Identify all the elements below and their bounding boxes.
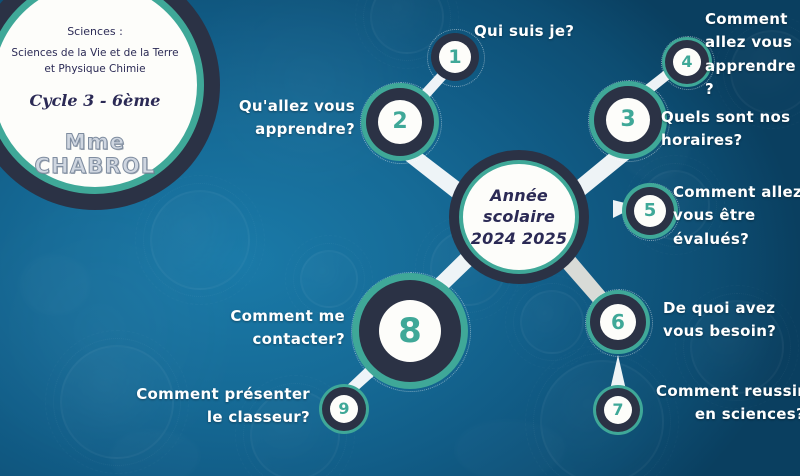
node-8-label: Comment me contacter? xyxy=(180,305,345,352)
node-5-label: Comment allez vous être évalués? xyxy=(673,181,800,251)
node-8-number-circle: 8 xyxy=(379,300,441,362)
node-9-number-circle: 9 xyxy=(330,395,358,423)
node-1-label: Qui suis je? xyxy=(474,20,614,43)
node-9-label: Comment présenter le classeur? xyxy=(115,383,310,430)
node-7[interactable]: 7 xyxy=(596,388,640,432)
node-5-number-circle: 5 xyxy=(634,195,666,227)
node-4[interactable]: 4 xyxy=(665,40,709,84)
teacher-badge: Sciences : Sciences de la Vie et de la T… xyxy=(0,0,220,210)
node-5[interactable]: 5 xyxy=(626,187,674,235)
badge-cycle: Cycle 3 - 6ème xyxy=(0,91,193,110)
node-4-label: Comment allez vous apprendre ? xyxy=(705,8,800,101)
node-2-label: Qu'allez vous apprendre? xyxy=(205,95,355,142)
center-hub-text: Année scolaire 2024 2025 xyxy=(471,185,567,248)
teacher-badge-ring: Sciences : Sciences de la Vie et de la T… xyxy=(0,0,204,194)
node-6-label: De quoi avez vous besoin? xyxy=(663,297,800,344)
node-7-label: Comment reussir en sciences? xyxy=(655,380,800,427)
node-3-number-circle: 3 xyxy=(606,98,650,142)
badge-subjects: Sciences de la Vie et de la Terre et Phy… xyxy=(0,46,193,78)
node-6[interactable]: 6 xyxy=(590,294,646,350)
node-4-number-circle: 4 xyxy=(673,48,701,76)
badge-teacher-name: Mme CHABROL xyxy=(0,131,193,178)
node-6-number-circle: 6 xyxy=(600,304,636,340)
node-3[interactable]: 3 xyxy=(594,86,662,154)
center-hub-ring: Année scolaire 2024 2025 xyxy=(459,160,579,274)
infographic-poster: Année scolaire 2024 2025 1 Qui suis je? … xyxy=(0,0,800,476)
node-3-label: Quels sont nos horaires? xyxy=(661,106,800,153)
badge-subject-title: Sciences : xyxy=(0,25,193,40)
node-1[interactable]: 1 xyxy=(431,33,479,81)
node-2[interactable]: 2 xyxy=(366,88,434,156)
node-2-number-circle: 2 xyxy=(378,100,422,144)
node-1-number-circle: 1 xyxy=(439,41,471,73)
node-7-number-circle: 7 xyxy=(604,396,632,424)
node-9[interactable]: 9 xyxy=(322,387,366,431)
node-8[interactable]: 8 xyxy=(359,280,461,382)
center-hub: Année scolaire 2024 2025 xyxy=(449,150,589,284)
